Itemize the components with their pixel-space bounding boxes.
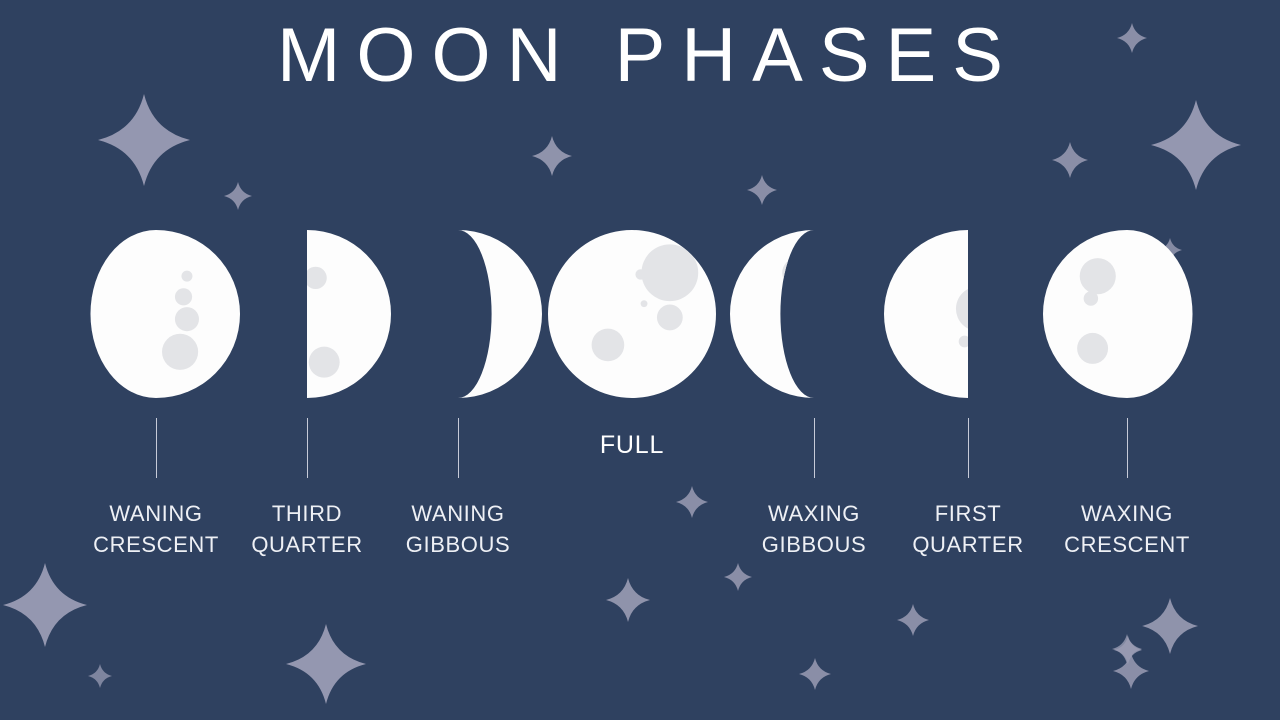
crater-icon: [592, 329, 625, 362]
crater-icon: [983, 254, 1007, 278]
crater-icon: [290, 299, 296, 305]
crater-icon: [782, 258, 811, 287]
moon-disc: [730, 230, 814, 398]
crater-icon: [162, 334, 198, 370]
moon-icon-waxing-crescent: [1041, 228, 1213, 400]
crater-icon: [175, 288, 192, 305]
crater-icon: [474, 310, 483, 319]
crater-group: [782, 258, 835, 361]
crater-icon: [830, 356, 836, 362]
crater-icon: [309, 347, 340, 378]
moon-phase-waxing-gibbous[interactable]: [728, 228, 900, 400]
connector-line-waxing-crescent: [1127, 418, 1128, 478]
crater-icon: [1077, 333, 1108, 364]
moon-disc: [884, 230, 968, 398]
crater-icon: [405, 321, 453, 369]
phase-label-waning-gibbous: WANING GIBBOUS: [348, 498, 568, 560]
phase-label-full: FULL: [522, 430, 742, 461]
moon-icon-waning-gibbous: [372, 228, 544, 400]
moon-disc: [458, 230, 542, 398]
moon-phase-waning-crescent[interactable]: [70, 228, 242, 400]
connector-line-waning-crescent: [156, 418, 157, 478]
moon-icon-waxing-gibbous: [728, 228, 900, 400]
crater-icon: [641, 244, 698, 301]
moon-disc: [90, 230, 240, 398]
moon-icon-first-quarter: [882, 228, 1054, 400]
crater-icon: [813, 294, 822, 303]
phase-label-waxing-crescent: WAXING CRESCENT: [1017, 498, 1237, 560]
connector-line-first-quarter: [968, 418, 969, 478]
crater-icon: [1022, 330, 1028, 336]
crater-icon: [255, 253, 291, 289]
crater-icon: [181, 271, 192, 282]
moon-icon-third-quarter: [221, 228, 393, 400]
crater-icon: [1080, 258, 1116, 294]
moon-phases-poster: MOON PHASES WANING CRESCENTTHIRD QUARTER…: [0, 0, 1280, 720]
moon-phase-first-quarter[interactable]: [882, 228, 1054, 400]
moon-phase-row: WANING CRESCENTTHIRD QUARTERWANING GIBBO…: [0, 0, 1280, 720]
moon-phase-third-quarter[interactable]: [221, 228, 393, 400]
crater-icon: [443, 286, 464, 307]
crater-icon: [1084, 291, 1098, 305]
moon-phase-waxing-crescent[interactable]: [1041, 228, 1213, 400]
crater-icon: [785, 302, 791, 308]
moon-phase-waning-gibbous[interactable]: [372, 228, 544, 400]
crater-icon: [956, 286, 1001, 331]
crater-icon: [959, 336, 971, 348]
crater-icon: [175, 307, 199, 331]
moon-icon-waning-crescent: [70, 228, 242, 400]
crater-icon: [641, 300, 648, 307]
connector-line-waning-gibbous: [458, 418, 459, 478]
connector-line-waxing-gibbous: [814, 418, 815, 478]
crater-group: [405, 286, 483, 369]
connector-line-third-quarter: [307, 418, 308, 478]
crater-icon: [304, 267, 326, 289]
crater-icon: [657, 305, 683, 331]
moon-phase-full[interactable]: [546, 228, 718, 400]
moon-disc: [1043, 230, 1193, 398]
moon-icon-full: [546, 228, 718, 400]
crater-icon: [635, 269, 645, 279]
